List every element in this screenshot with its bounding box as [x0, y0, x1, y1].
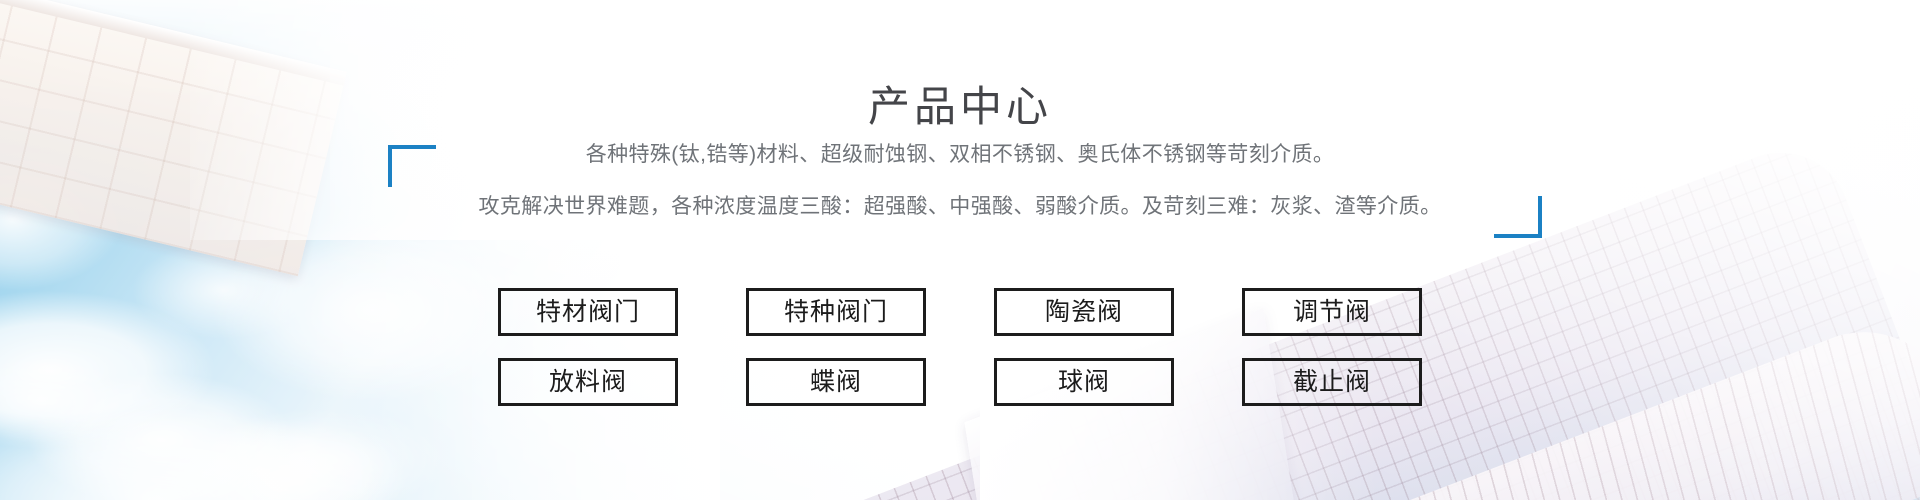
category-button-butterfly-valve[interactable]: 蝶阀 — [746, 358, 926, 406]
product-category-row-1: 特材阀门 特种阀门 陶瓷阀 调节阀 — [498, 288, 1422, 336]
banner-content: 产品中心 各种特殊(钛,锆等)材料、超级耐蚀钢、双相不锈钢、奥氏体不锈钢等苛刻介… — [0, 0, 1920, 500]
category-button-ball-valve[interactable]: 球阀 — [994, 358, 1174, 406]
description-line-1: 各种特殊(钛,锆等)材料、超级耐蚀钢、双相不锈钢、奥氏体不锈钢等苛刻介质。 — [0, 144, 1920, 165]
decorative-corner-top-left — [388, 145, 436, 187]
category-button-ceramic-valve[interactable]: 陶瓷阀 — [994, 288, 1174, 336]
category-button-globe-valve[interactable]: 截止阀 — [1242, 358, 1422, 406]
category-button-techai-valve[interactable]: 特材阀门 — [498, 288, 678, 336]
description-line-2: 攻克解决世界难题，各种浓度温度三酸：超强酸、中强酸、弱酸介质。及苛刻三难：灰浆、… — [0, 196, 1920, 217]
page-title: 产品中心 — [0, 80, 1920, 135]
product-category-row-2: 放料阀 蝶阀 球阀 截止阀 — [498, 358, 1422, 406]
decorative-corner-bottom-right — [1494, 196, 1542, 238]
category-button-control-valve[interactable]: 调节阀 — [1242, 288, 1422, 336]
product-category-grid: 特材阀门 特种阀门 陶瓷阀 调节阀 放料阀 蝶阀 球阀 截止阀 — [0, 288, 1920, 406]
category-button-special-valve[interactable]: 特种阀门 — [746, 288, 926, 336]
product-center-banner: 产品中心 各种特殊(钛,锆等)材料、超级耐蚀钢、双相不锈钢、奥氏体不锈钢等苛刻介… — [0, 0, 1920, 500]
category-button-discharge-valve[interactable]: 放料阀 — [498, 358, 678, 406]
description-block: 各种特殊(钛,锆等)材料、超级耐蚀钢、双相不锈钢、奥氏体不锈钢等苛刻介质。 攻克… — [0, 144, 1920, 217]
